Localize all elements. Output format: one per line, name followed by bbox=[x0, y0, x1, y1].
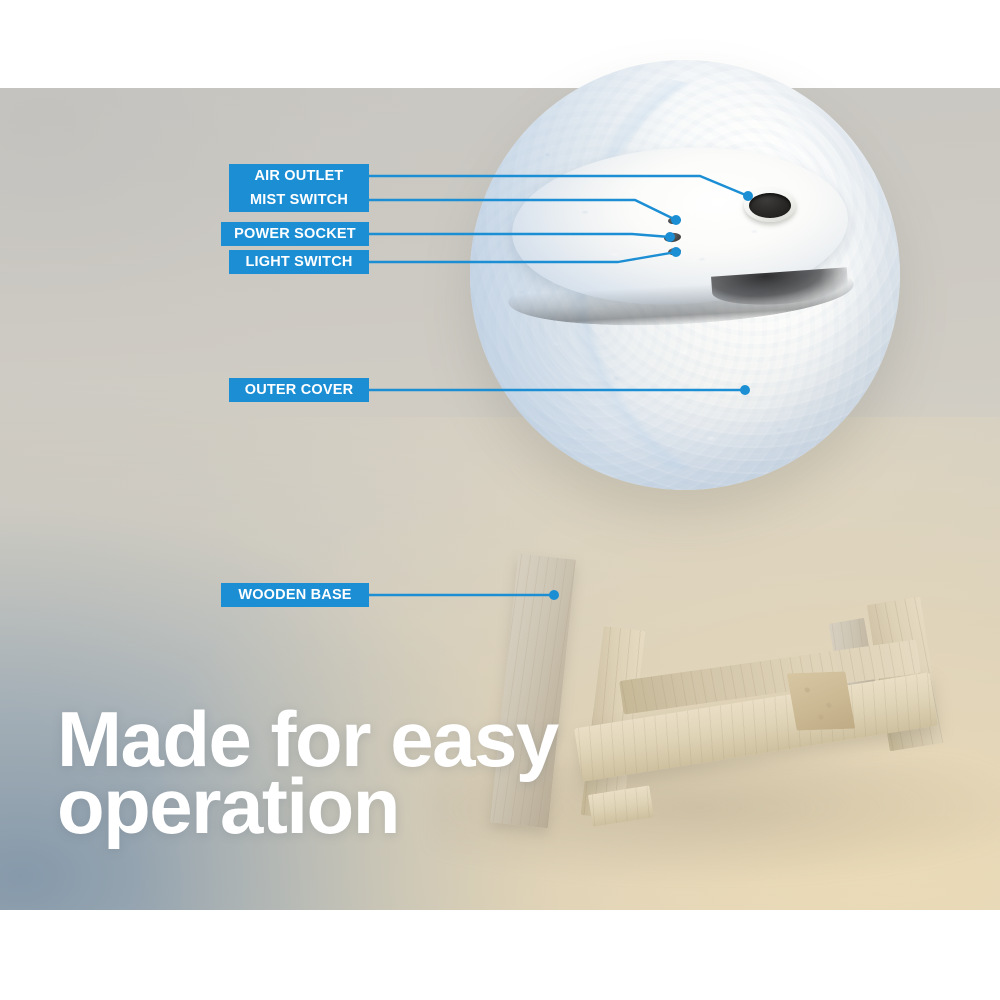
leader-dot-mist-switch bbox=[671, 215, 681, 225]
leader-dot-wooden-base bbox=[549, 590, 559, 600]
callout-tag-mist-switch[interactable]: MIST SWITCH bbox=[229, 188, 369, 212]
headline-line-2: operation bbox=[57, 773, 558, 840]
callout-tag-light-switch[interactable]: LIGHT SWITCH bbox=[229, 250, 369, 274]
leader-line-power-socket bbox=[369, 234, 670, 237]
leader-line-mist-switch bbox=[369, 200, 676, 220]
callout-tag-air-outlet[interactable]: AIR OUTLET bbox=[229, 164, 369, 188]
callout-tag-power-socket[interactable]: POWER SOCKET bbox=[221, 222, 369, 246]
leader-line-air-outlet bbox=[369, 176, 748, 196]
callout-overlay: AIR OUTLET MIST SWITCH POWER SOCKET LIGH… bbox=[0, 0, 1000, 1000]
callout-tag-outer-cover[interactable]: OUTER COVER bbox=[229, 378, 369, 402]
product-feature-image: AIR OUTLET MIST SWITCH POWER SOCKET LIGH… bbox=[0, 0, 1000, 1000]
leader-dot-light-switch bbox=[671, 247, 681, 257]
callout-tag-wooden-base[interactable]: WOODEN BASE bbox=[221, 583, 369, 607]
leader-dot-power-socket bbox=[665, 232, 675, 242]
headline: Made for easy operation bbox=[57, 706, 558, 840]
callout-lines-svg bbox=[0, 0, 1000, 1000]
leader-dot-air-outlet bbox=[743, 191, 753, 201]
leader-line-light-switch bbox=[369, 252, 676, 262]
leader-dot-outer-cover bbox=[740, 385, 750, 395]
